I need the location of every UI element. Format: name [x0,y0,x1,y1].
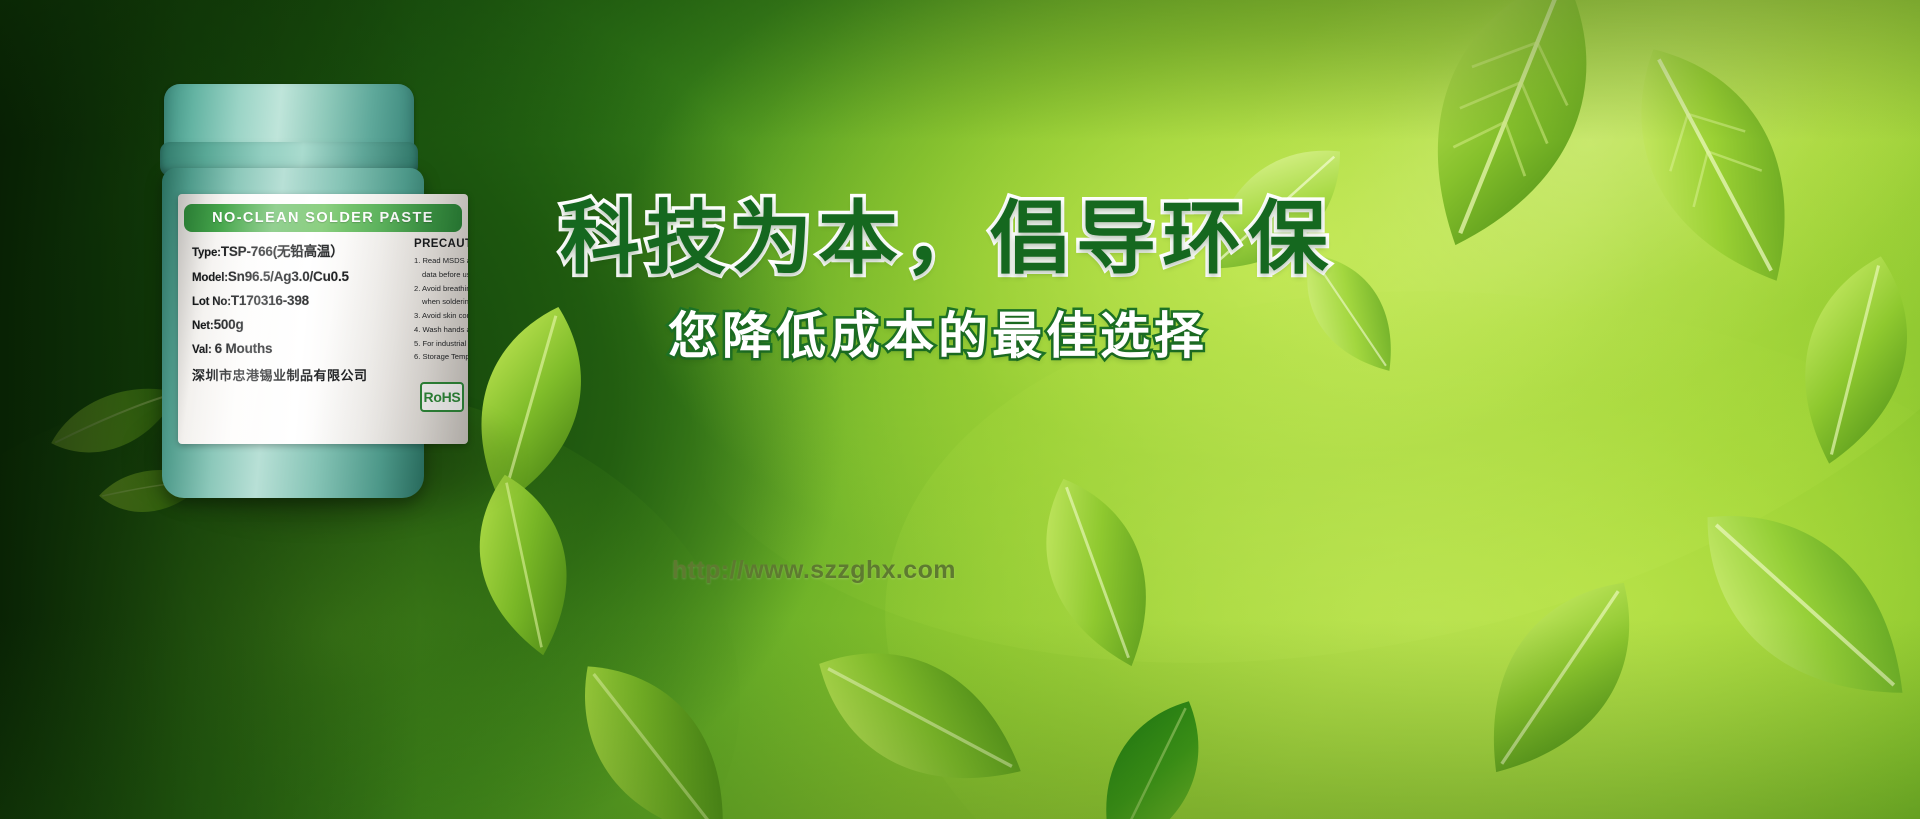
precautions-item: data before us [414,270,468,281]
precautions-item: 3. Avoid skin conta [414,311,468,322]
leaf-icon [1333,0,1686,298]
leaf-icon [1628,429,1920,781]
label-title-band: NO-CLEAN SOLDER PASTE [184,204,462,232]
precautions-title: PRECAUTIONS [414,238,468,250]
leaf-icon [1550,0,1880,338]
label-band-text: NO-CLEAN SOLDER PASTE [212,210,434,226]
leaf-icon [1736,230,1920,489]
banner-copy-block: 科技为本，倡导环保 您降低成本的最佳选择 [560,196,1380,368]
label-key-lot: Lot No: [192,296,231,308]
leaf-icon [980,446,1215,698]
precautions-item: 4. Wash hands afte [414,325,468,336]
label-value-model: Sn96.5/Ag3.0/Cu0.5 [228,269,349,284]
leaf-icon [769,574,1070,819]
label-row-model: Model:Sn96.5/Ag3.0/Cu0.5 [192,269,402,284]
product-jar-image: NO-CLEAN SOLDER PASTE Type:TSP-766(无铅高温）… [156,84,486,504]
leaf-icon [511,605,799,819]
precautions-item: 6. Storage Temp: [414,352,468,363]
label-key-val: Val: [192,344,215,356]
light-streak-2 [456,0,1920,811]
label-value-val: 6 Mouths [215,341,273,356]
banner-subheadline: 您降低成本的最佳选择 [668,296,1380,368]
precautions-item: 1. Read MSDS and [414,256,468,267]
background-swirl-top [533,0,1920,808]
label-row-net: Net:500g [192,317,402,332]
label-value-lot: T170316-398 [231,293,309,308]
rohs-badge-text: RoHS [424,389,461,405]
banner-headline: 科技为本，倡导环保 [560,196,1380,282]
label-company-name: 深圳市忠港锡业制品有限公司 [192,365,402,384]
label-row-type: Type:TSP-766(无铅高温） [192,240,402,260]
precautions-item: when soldering [414,297,468,308]
precautions-item: 2. Avoid breathing [414,284,468,295]
label-value-net: 500g [214,317,244,332]
label-spec-list: Type:TSP-766(无铅高温） Model:Sn96.5/Ag3.0/Cu… [192,240,402,384]
precautions-item: 5. For industrial us [414,339,468,350]
light-streak-1 [343,0,1920,819]
product-label: NO-CLEAN SOLDER PASTE Type:TSP-766(无铅高温）… [178,194,468,444]
rohs-badge: RoHS [420,382,464,412]
label-key-type: Type: [192,247,221,259]
label-row-val: Val: 6 Mouths [192,341,402,356]
label-row-lot: Lot No:T170316-398 [192,293,402,308]
website-url[interactable]: http://www.szzghx.com [672,556,956,585]
label-precautions: PRECAUTIONS 1. Read MSDS and data before… [414,238,468,366]
label-value-type: TSP-766(无铅高温） [221,244,344,259]
leaf-icon [1045,666,1258,819]
label-key-net: Net: [192,320,214,332]
label-key-model: Model: [192,272,228,284]
eco-product-banner: NO-CLEAN SOLDER PASTE Type:TSP-766(无铅高温）… [0,0,1920,819]
leaf-icon [1411,524,1708,819]
bottom-vignette [0,619,1920,819]
